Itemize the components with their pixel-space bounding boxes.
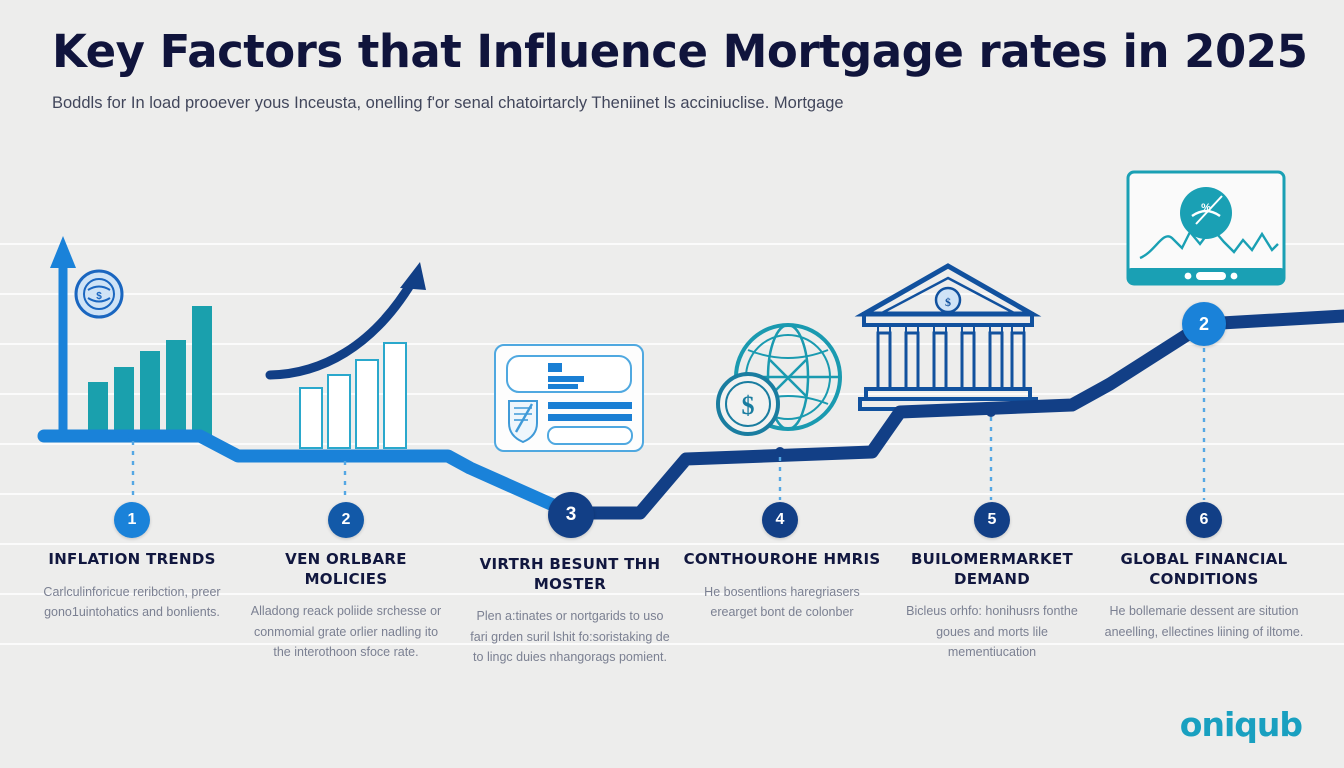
factor-body-2: Alladong reack poliide srchesse or conmo…	[246, 601, 446, 663]
timeline-marker-2-label: 2	[342, 511, 351, 529]
growth-arrow-icon	[270, 262, 426, 448]
factor-body-4: He bosentlions haregriasers erearget bon…	[682, 582, 882, 623]
bar-chart-icon: $	[50, 236, 212, 437]
factor-card-3: VIRTRH BESUNT THH MOSTER Plen a:tinates …	[470, 555, 670, 668]
factor-body-5: Bicleus orhfo: honihusrs fonthe goues an…	[892, 601, 1092, 663]
timeline-marker-5-label: 5	[988, 511, 997, 529]
factor-title-6: GLOBAL FINANCIAL CONDITIONS	[1104, 550, 1304, 589]
factor-title-1: INFLATION TRENDS	[32, 550, 232, 570]
svg-text:$: $	[742, 391, 755, 420]
factor-title-4: CONTHOUROHE HMRIS	[682, 550, 882, 570]
line-node-badge-label: 2	[1199, 314, 1209, 335]
factor-card-1: INFLATION TRENDS Carlculinforicue reribc…	[32, 550, 232, 623]
monitor-chart-icon: %	[1128, 172, 1284, 284]
timeline-line-dark	[571, 316, 1344, 513]
timeline-marker-5[interactable]: 5	[974, 502, 1010, 538]
timeline-marker-2[interactable]: 2	[328, 502, 364, 538]
document-card-icon	[495, 345, 643, 451]
svg-text:$: $	[96, 291, 102, 302]
factor-card-5: BUILOMERMARKET DEMAND Bicleus orhfo: hon…	[892, 550, 1092, 663]
bank-building-icon: $	[860, 266, 1036, 409]
factor-body-3: Plen a:tinates or nortgarids to uso fari…	[470, 606, 670, 668]
line-node-badge-2[interactable]: 2	[1182, 302, 1226, 346]
globe-dollar-icon: $	[718, 325, 840, 434]
timeline-marker-4-label: 4	[776, 511, 785, 529]
timeline-marker-3-label: 3	[566, 504, 577, 526]
factor-card-6: GLOBAL FINANCIAL CONDITIONS He bollemari…	[1104, 550, 1304, 642]
factor-body-6: He bollemarie dessent are sitution aneel…	[1104, 601, 1304, 642]
factor-title-3: VIRTRH BESUNT THH MOSTER	[470, 555, 670, 594]
factor-body-1: Carlculinforicue reribction, preer gono1…	[32, 582, 232, 623]
factor-title-5: BUILOMERMARKET DEMAND	[892, 550, 1092, 589]
infographic-canvas: Key Factors that Influence Mortgage rate…	[0, 0, 1344, 768]
brand-logo: oniqub	[1180, 705, 1302, 744]
timeline-marker-3[interactable]: 3	[548, 492, 594, 538]
timeline-marker-4[interactable]: 4	[762, 502, 798, 538]
svg-text:$: $	[945, 295, 951, 309]
factor-title-2: VEN ORLBARE MOLICIES	[246, 550, 446, 589]
factor-card-2: VEN ORLBARE MOLICIES Alladong reack poli…	[246, 550, 446, 663]
factor-card-4: CONTHOUROHE HMRIS He bosentlions haregri…	[682, 550, 882, 623]
timeline-marker-6[interactable]: 6	[1186, 502, 1222, 538]
timeline-marker-1-label: 1	[128, 511, 137, 529]
timeline-marker-1[interactable]: 1	[114, 502, 150, 538]
chart-illustration-layer: $	[0, 0, 1344, 768]
timeline-marker-6-label: 6	[1200, 511, 1209, 529]
